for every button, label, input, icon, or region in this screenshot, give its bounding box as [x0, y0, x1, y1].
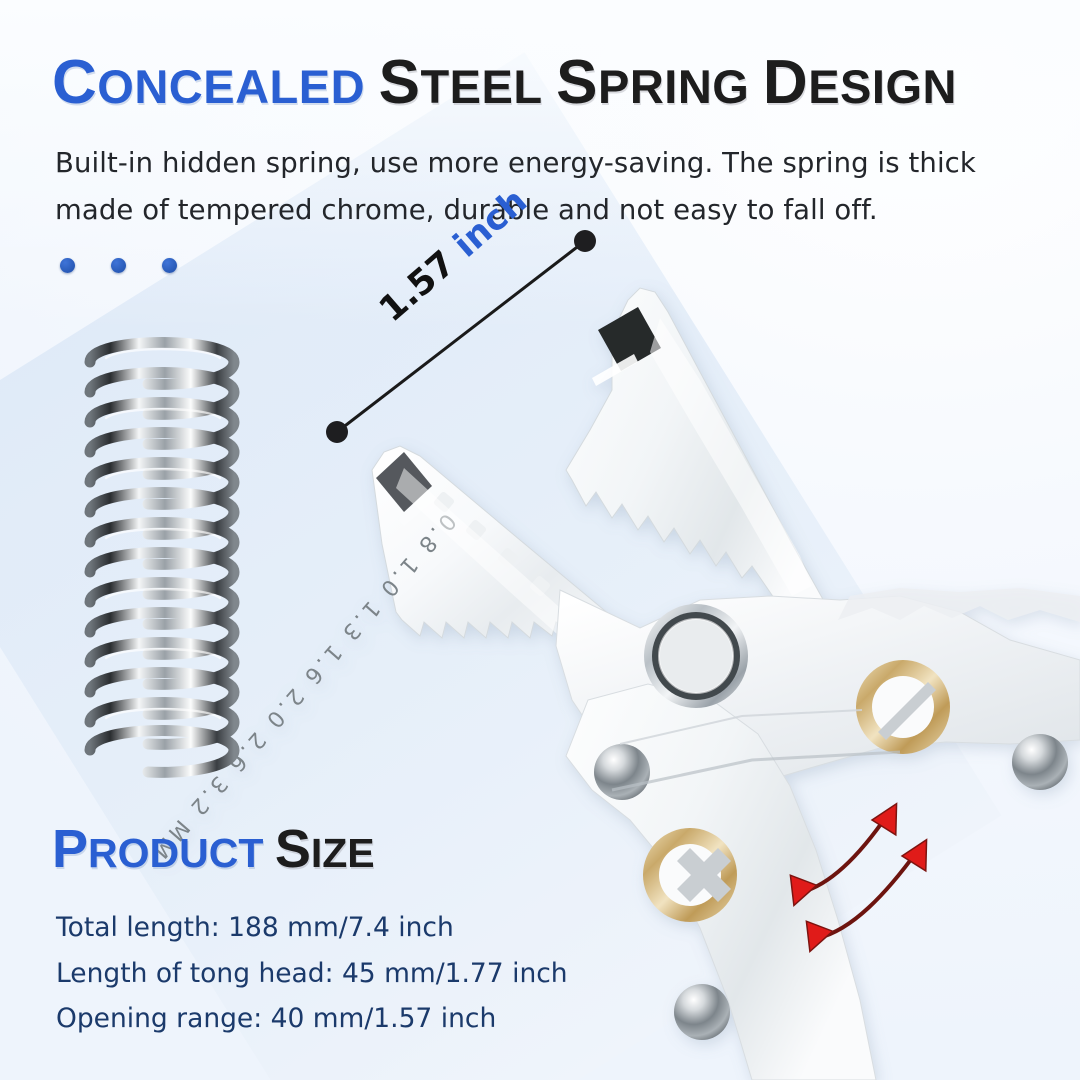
brass-ring-slotted: [856, 660, 950, 754]
spec-list: Total length: 188 mm/7.4 inch Length of …: [56, 905, 676, 1042]
title-steel: TEEL: [420, 60, 542, 113]
dot-icon: [60, 258, 75, 273]
product-size-title: PRODUCT SIZE: [52, 822, 375, 876]
title-spring: PRING: [598, 60, 749, 113]
title-cap-s2: S: [556, 48, 598, 117]
size-cap-p: P: [52, 819, 88, 879]
title-cap-d: D: [763, 48, 808, 117]
upper-jaw: [566, 288, 830, 636]
size-size: IZE: [311, 830, 375, 876]
dot-icon: [111, 258, 126, 273]
spec-total-length: Total length: 188 mm/7.4 inch: [56, 905, 676, 951]
pivot-ring: [644, 604, 748, 708]
size-cap-s: S: [275, 819, 311, 879]
spec-opening-range: Opening range: 40 mm/1.57 inch: [56, 996, 676, 1042]
title-cap-s1: S: [379, 48, 421, 117]
description-line-1: Built-in hidden spring, use more energy-…: [55, 140, 1005, 187]
opening-range-arrows: [740, 780, 980, 970]
title-concealed: ONCEALED: [97, 60, 365, 113]
size-product: RODUCT: [88, 830, 263, 876]
decorative-dots: [60, 258, 177, 273]
title-design: ESIGN: [808, 60, 957, 113]
title-cap-c: C: [52, 48, 97, 117]
rivet-ball-right: [1012, 734, 1068, 790]
coil-spring-illustration: [62, 322, 292, 782]
spec-tong-head-length: Length of tong head: 45 mm/1.77 inch: [56, 951, 676, 997]
page-title: CONCEALED STEEL SPRING DESIGN: [52, 52, 1042, 114]
description-paragraph: Built-in hidden spring, use more energy-…: [55, 140, 1005, 235]
dot-icon: [162, 258, 177, 273]
infographic-canvas: 0.8 1.0 1.3 1.6 2.0 2.6 3.2 MM: [0, 0, 1080, 1080]
rivet-ball-bottom: [674, 984, 730, 1040]
rivet-ball-left: [594, 744, 650, 800]
